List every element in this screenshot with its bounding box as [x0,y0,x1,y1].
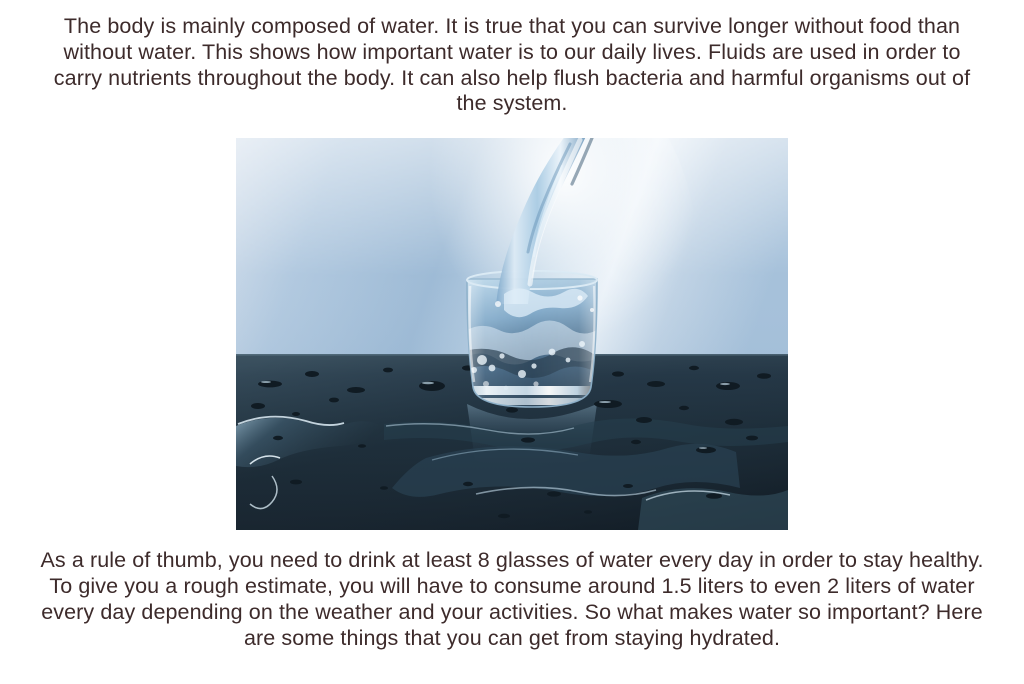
water-pour-illustration [236,138,788,530]
closing-paragraph: As a rule of thumb, you need to drink at… [32,548,992,651]
water-pour-photo [236,138,788,530]
intro-paragraph: The body is mainly composed of water. It… [38,14,986,117]
